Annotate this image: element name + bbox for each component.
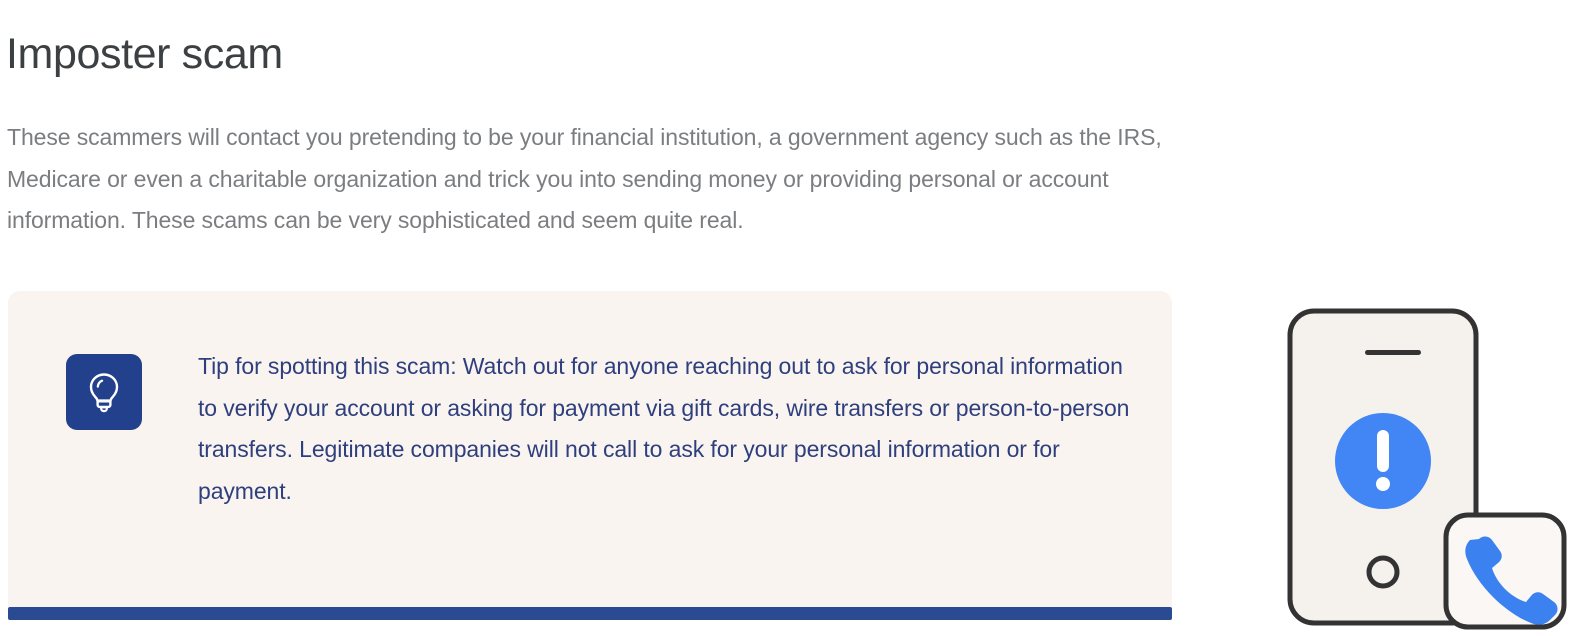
page-title: Imposter scam bbox=[6, 25, 283, 83]
alert-exclamation-icon bbox=[1335, 413, 1431, 509]
tip-card: Tip for spotting this scam: Watch out fo… bbox=[8, 291, 1172, 607]
tip-text: Tip for spotting this scam: Watch out fo… bbox=[198, 346, 1138, 512]
phone-handset-icon bbox=[1446, 515, 1564, 627]
lightbulb-icon bbox=[66, 354, 142, 430]
tip-card-content: Tip for spotting this scam: Watch out fo… bbox=[66, 354, 1138, 512]
intro-paragraph: These scammers will contact you pretendi… bbox=[7, 117, 1182, 242]
phone-scam-call-illustration bbox=[1283, 300, 1586, 636]
tip-card-accent-bar bbox=[8, 607, 1172, 620]
